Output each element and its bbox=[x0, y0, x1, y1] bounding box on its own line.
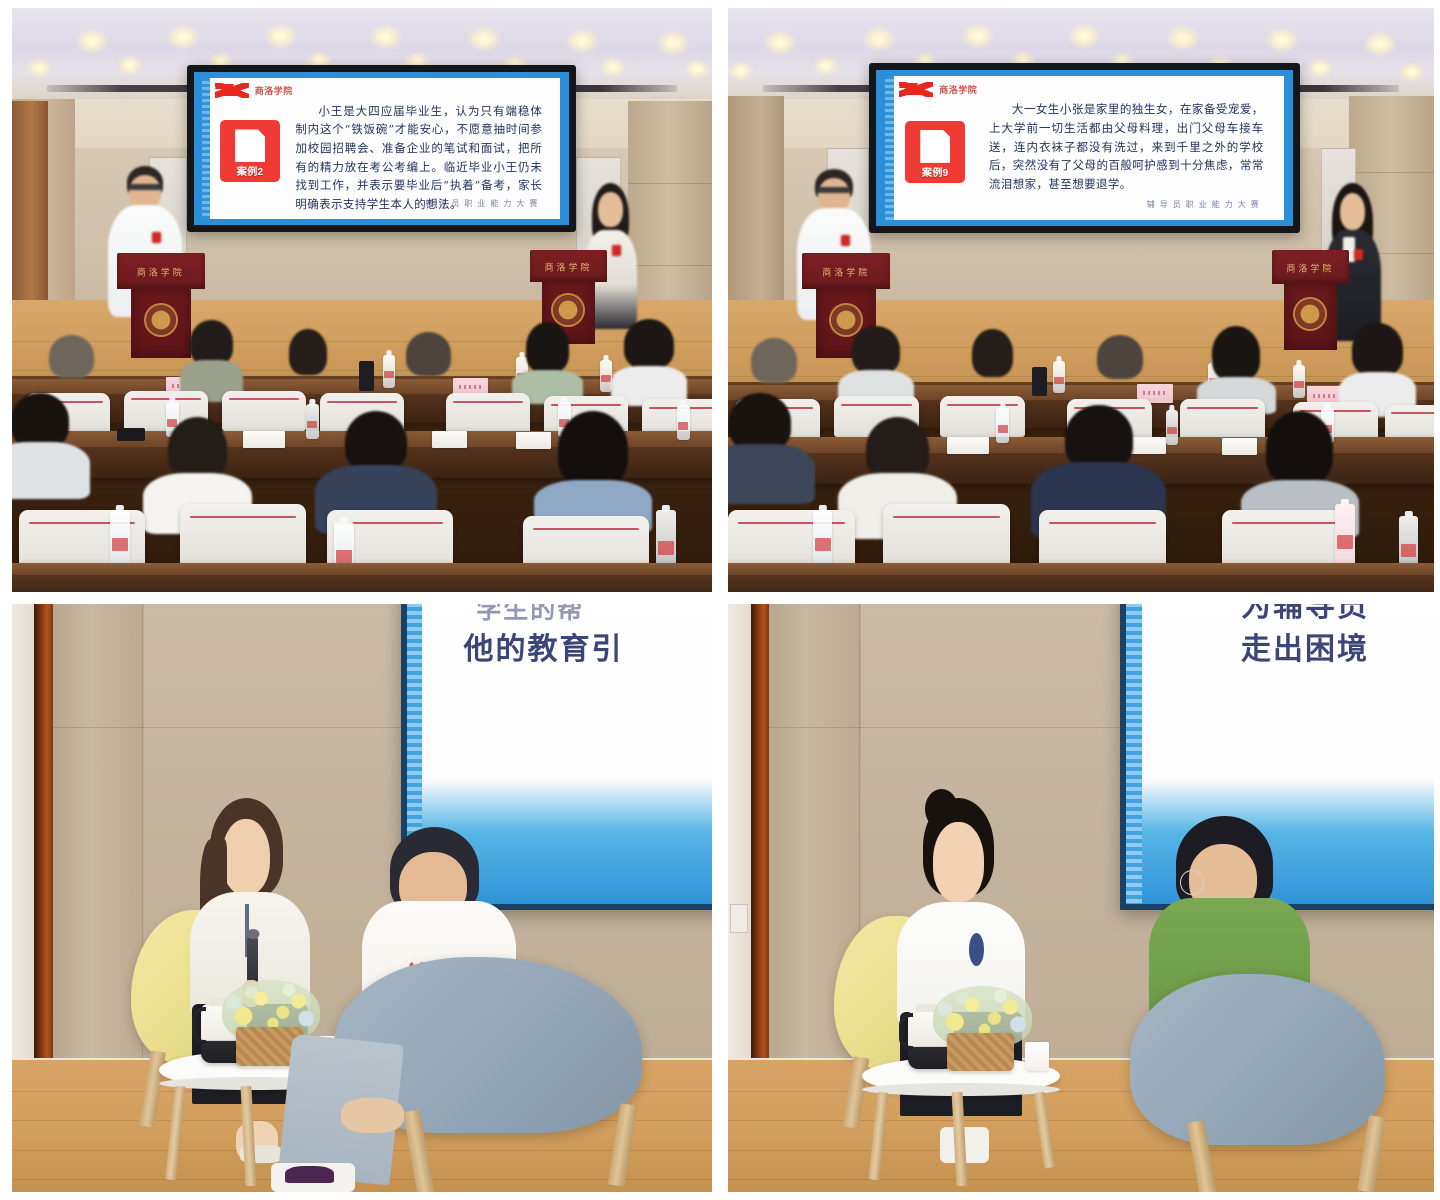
photo-collage: 商洛学院 案例2 小王是大四应届毕业生，认为只有端稳体制内这个“铁饭碗”才能安心… bbox=[0, 0, 1440, 1200]
slide-logo-tl: 商洛学院 bbox=[215, 83, 293, 98]
hair bbox=[190, 320, 233, 364]
notebook bbox=[243, 431, 285, 449]
contestant-badge bbox=[152, 232, 161, 243]
podium-top: 商洛学院 bbox=[117, 253, 205, 289]
hair bbox=[558, 411, 629, 487]
desk-surface bbox=[12, 563, 712, 575]
water-bottle bbox=[996, 408, 1009, 443]
water-bottle bbox=[383, 355, 395, 387]
slide-tr: 商洛学院 案例9 大一女生小张是家里的独生女，在家备受宠爱，上大学前一切生活都由… bbox=[885, 76, 1283, 220]
slide-line-2-br: 走出困境 bbox=[1241, 631, 1369, 669]
glasses-icon bbox=[129, 184, 161, 190]
desk-surface bbox=[728, 563, 1434, 575]
podium-label: 商洛学院 bbox=[822, 265, 870, 278]
attendee bbox=[614, 319, 684, 407]
hair bbox=[1065, 405, 1133, 469]
case-badge-label: 案例2 bbox=[237, 163, 263, 178]
slide-accent-bar bbox=[885, 76, 894, 220]
case-badge-tl: 案例2 bbox=[220, 120, 280, 182]
hair bbox=[289, 329, 327, 375]
head bbox=[222, 819, 270, 895]
talk-scene-br: 为辅导员 走出困境 bbox=[728, 604, 1434, 1192]
attendee bbox=[516, 322, 579, 404]
university-emblem-icon bbox=[1293, 297, 1327, 331]
case-badge-tr: 案例9 bbox=[905, 121, 965, 183]
water-bottle bbox=[110, 510, 130, 568]
head bbox=[1340, 193, 1365, 231]
document-icon bbox=[920, 130, 950, 163]
podium-label: 商洛学院 bbox=[137, 265, 185, 278]
chair-back bbox=[940, 396, 1025, 437]
slide-body-text-tl: 小王是大四应届毕业生，认为只有端稳体制内这个“铁饭碗”才能安心，不愿意抽时间参加… bbox=[295, 102, 542, 214]
hair bbox=[972, 329, 1013, 376]
water-bottle bbox=[677, 405, 690, 440]
podium-label: 商洛学院 bbox=[1286, 261, 1334, 274]
door-frame-wood-br bbox=[751, 604, 769, 1063]
smartphone bbox=[117, 428, 145, 441]
desk-microphone bbox=[359, 361, 374, 390]
wall-seam bbox=[769, 727, 861, 728]
water-bottle bbox=[600, 360, 612, 392]
wall-seam bbox=[859, 727, 1134, 728]
sneaker-swoosh bbox=[285, 1166, 334, 1184]
glasses-icon bbox=[1180, 870, 1205, 895]
water-bottle bbox=[1053, 361, 1065, 393]
head bbox=[598, 192, 623, 227]
wall-seam bbox=[142, 727, 415, 728]
hand-on-chair-bl bbox=[341, 1098, 404, 1133]
hair bbox=[852, 326, 900, 373]
slide-accent-bar bbox=[202, 78, 210, 220]
screen-surface: 商洛学院 案例2 小王是大四应届毕业生，认为只有端稳体制内这个“铁饭碗”才能安心… bbox=[194, 72, 569, 224]
torso bbox=[728, 444, 815, 504]
floor-plank-seam bbox=[728, 1150, 1434, 1151]
hair bbox=[1352, 323, 1403, 375]
podium-label: 商洛学院 bbox=[544, 260, 592, 273]
desk-row-3-tl bbox=[12, 563, 712, 592]
wall-seam bbox=[53, 727, 144, 728]
contestant-badge bbox=[1354, 249, 1363, 260]
water-bottle bbox=[306, 404, 319, 439]
podium-top: 商洛学院 bbox=[530, 250, 607, 282]
kettle-handle bbox=[899, 1013, 913, 1049]
kettle-handle bbox=[192, 1007, 206, 1043]
slide-line-1-bl: 学生的帮 bbox=[476, 604, 584, 626]
torso bbox=[12, 442, 90, 499]
podium-top: 商洛学院 bbox=[802, 253, 890, 289]
slide-footer-tr: 辅导员职业能力大赛 bbox=[1147, 199, 1264, 210]
panel-bottom-left: 学生的帮 他的教育引 bbox=[12, 604, 712, 1192]
wall-switch-plate-br[interactable] bbox=[730, 904, 748, 933]
talk-scene-bl: 学生的帮 他的教育引 bbox=[12, 604, 712, 1192]
conference-room-tl: 商洛学院 案例2 小王是大四应届毕业生，认为只有端稳体制内这个“铁饭碗”才能安心… bbox=[12, 8, 712, 592]
hair bbox=[866, 417, 929, 481]
case-badge-label: 案例9 bbox=[922, 164, 948, 179]
hair bbox=[406, 332, 451, 376]
attendee bbox=[180, 320, 243, 402]
hair bbox=[729, 393, 791, 451]
hair bbox=[168, 417, 226, 480]
door-jamb-white-br bbox=[728, 604, 751, 1063]
screen-surface: 商洛学院 案例9 大一女生小张是家里的独生女，在家备受宠爱，上大学前一切生活都由… bbox=[876, 70, 1293, 225]
hair bbox=[624, 319, 674, 370]
panel-top-left: 商洛学院 案例2 小王是大四应届毕业生，认为只有端稳体制内这个“铁饭碗”才能安心… bbox=[12, 8, 712, 592]
attendee bbox=[12, 393, 82, 498]
slide-line-1-br: 为辅导员 bbox=[1241, 604, 1369, 625]
floor-plank-seam bbox=[728, 1179, 1434, 1180]
hair bbox=[1266, 411, 1333, 486]
slide-logo-label: 商洛学院 bbox=[939, 83, 977, 96]
slide-body-text-tr: 大一女生小张是家里的独生女，在家备受宠爱，上大学前一切生活都由父母料理，出门父母… bbox=[989, 100, 1264, 193]
chair-back bbox=[883, 504, 1010, 568]
hair bbox=[1097, 335, 1143, 379]
glasses-icon bbox=[818, 187, 850, 193]
conference-room-tr: 商洛学院 案例9 大一女生小张是家里的独生女，在家备受宠爱，上大学前一切生活都由… bbox=[728, 8, 1434, 592]
head bbox=[933, 822, 984, 901]
hair bbox=[526, 322, 569, 373]
chair-back bbox=[446, 393, 530, 434]
panel-bottom-right: 为辅导员 走出困境 bbox=[728, 604, 1434, 1192]
slide-footer-tl: 辅导员职业能力大赛 bbox=[425, 198, 542, 209]
document-icon bbox=[235, 129, 265, 162]
wall-pillar-bl bbox=[53, 604, 144, 1063]
sl-logo-icon bbox=[899, 82, 933, 97]
notebook bbox=[947, 437, 989, 455]
desk-microphone bbox=[1032, 367, 1048, 396]
hair bbox=[49, 335, 94, 378]
podium-right-tr: 商洛学院 bbox=[1272, 250, 1350, 349]
panel-top-right: 商洛学院 案例9 大一女生小张是家里的独生女，在家备受宠爱，上大学前一切生活都由… bbox=[728, 8, 1434, 592]
contestant-badge bbox=[612, 245, 621, 256]
door-frame-wood-bl bbox=[34, 604, 52, 1063]
notebook bbox=[432, 431, 467, 449]
water-bottle bbox=[813, 510, 833, 568]
university-emblem-icon bbox=[144, 303, 178, 337]
podium-top: 商洛学院 bbox=[1272, 250, 1350, 284]
water-bottle bbox=[1293, 365, 1305, 397]
hair bbox=[345, 411, 408, 472]
slide-logo-tr: 商洛学院 bbox=[899, 82, 977, 97]
school-badge-icon bbox=[969, 933, 984, 967]
flower-basket-br bbox=[947, 1033, 1014, 1071]
water-bottle bbox=[1335, 504, 1355, 568]
slide-tl: 商洛学院 案例2 小王是大四应届毕业生，认为只有端稳体制内这个“铁饭碗”才能安心… bbox=[202, 78, 560, 220]
floor-seam bbox=[728, 376, 1434, 377]
desk-row-3-tr bbox=[728, 563, 1434, 592]
hair bbox=[751, 338, 797, 384]
attendee bbox=[728, 393, 806, 504]
chair-back bbox=[180, 504, 306, 568]
slide-line-2-bl: 他的教育引 bbox=[464, 631, 624, 669]
water-bottle bbox=[1166, 410, 1179, 445]
slide-accent-bar bbox=[1126, 604, 1142, 904]
wall-seam bbox=[1349, 172, 1434, 173]
contestant-badge bbox=[841, 235, 850, 246]
hair bbox=[12, 393, 69, 448]
door-jamb-white-bl bbox=[12, 604, 34, 1063]
slide-logo-label: 商洛学院 bbox=[255, 84, 293, 97]
sl-logo-icon bbox=[215, 83, 249, 98]
paper-cup-br bbox=[1025, 1042, 1049, 1071]
podium-body bbox=[1284, 283, 1337, 350]
presentation-screen-tr: 商洛学院 案例9 大一女生小张是家里的独生女，在家备受宠爱，上大学前一切生活都由… bbox=[869, 63, 1300, 232]
presentation-screen-tl: 商洛学院 案例2 小王是大四应届毕业生，认为只有端稳体制内这个“铁饭碗”才能安心… bbox=[187, 65, 576, 231]
hair bbox=[1212, 326, 1260, 380]
